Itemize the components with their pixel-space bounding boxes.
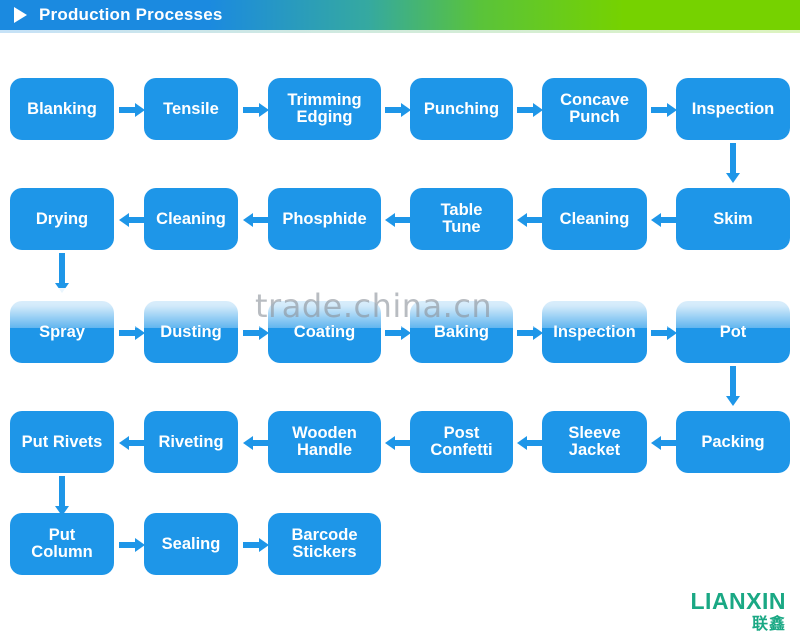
process-node-put-column[interactable]: Put Column (10, 513, 114, 575)
logo-chinese-name: 联鑫 (691, 616, 787, 632)
arrow-right-r1-4 (517, 103, 543, 117)
process-node-trimming-edging[interactable]: Trimming Edging (268, 78, 381, 140)
arrow-down-r1-r2 (726, 143, 740, 183)
arrow-right-r1-3 (385, 103, 411, 117)
arrow-right-r3-4 (517, 326, 543, 340)
process-node-inspection-2[interactable]: Inspection (542, 301, 647, 363)
process-node-spray[interactable]: Spray (10, 301, 114, 363)
process-node-drying[interactable]: Drying (10, 188, 114, 250)
process-node-table-tune[interactable]: Table Tune (410, 188, 513, 250)
process-node-phosphide[interactable]: Phosphide (268, 188, 381, 250)
process-node-cleaning-1[interactable]: Cleaning (144, 188, 238, 250)
arrow-right-r3-1 (119, 326, 145, 340)
process-node-post-confetti[interactable]: Post Confetti (410, 411, 513, 473)
process-flow-diagram: Blanking Tensile Trimming Edging Punchin… (0, 33, 800, 640)
process-node-cleaning-2[interactable]: Cleaning (542, 188, 647, 250)
arrow-left-r2-3 (385, 213, 411, 227)
arrow-down-r4-r5 (55, 476, 69, 516)
arrow-left-r4-5 (651, 436, 677, 450)
process-node-coating[interactable]: Coating (268, 301, 381, 363)
process-node-pot[interactable]: Pot (676, 301, 790, 363)
arrow-down-r3-r4 (726, 366, 740, 406)
page-title: Production Processes (39, 5, 223, 25)
arrow-left-r2-2 (243, 213, 269, 227)
arrow-right-r1-5 (651, 103, 677, 117)
arrow-right-r5-2 (243, 538, 269, 552)
process-node-sleeve-jacket[interactable]: Sleeve Jacket (542, 411, 647, 473)
process-node-punching[interactable]: Punching (410, 78, 513, 140)
process-node-put-rivets[interactable]: Put Rivets (10, 411, 114, 473)
arrow-down-r2-r3 (55, 253, 69, 293)
process-node-riveting[interactable]: Riveting (144, 411, 238, 473)
process-node-skim[interactable]: Skim (676, 188, 790, 250)
process-node-concave-punch[interactable]: Concave Punch (542, 78, 647, 140)
process-node-baking[interactable]: Baking (410, 301, 513, 363)
arrow-right-r1-2 (243, 103, 269, 117)
header-bar: Production Processes (0, 0, 800, 30)
arrow-left-r2-1 (119, 213, 145, 227)
play-triangle-icon (14, 7, 27, 23)
arrow-left-r4-1 (119, 436, 145, 450)
process-node-tensile[interactable]: Tensile (144, 78, 238, 140)
arrow-right-r3-2 (243, 326, 269, 340)
arrow-left-r4-2 (243, 436, 269, 450)
arrow-right-r5-1 (119, 538, 145, 552)
logo-wordmark: LIANXIN (691, 590, 787, 613)
process-node-blanking[interactable]: Blanking (10, 78, 114, 140)
arrow-left-r4-4 (517, 436, 543, 450)
arrow-right-r3-5 (651, 326, 677, 340)
process-node-inspection-1[interactable]: Inspection (676, 78, 790, 140)
arrow-right-r1-1 (119, 103, 145, 117)
process-node-dusting[interactable]: Dusting (144, 301, 238, 363)
arrow-right-r3-3 (385, 326, 411, 340)
process-node-packing[interactable]: Packing (676, 411, 790, 473)
process-node-barcode-stickers[interactable]: Barcode Stickers (268, 513, 381, 575)
process-node-wooden-handle[interactable]: Wooden Handle (268, 411, 381, 473)
process-node-sealing[interactable]: Sealing (144, 513, 238, 575)
lianxin-logo: LIANXIN 联鑫 (691, 590, 787, 632)
arrow-left-r2-5 (651, 213, 677, 227)
arrow-left-r2-4 (517, 213, 543, 227)
arrow-left-r4-3 (385, 436, 411, 450)
